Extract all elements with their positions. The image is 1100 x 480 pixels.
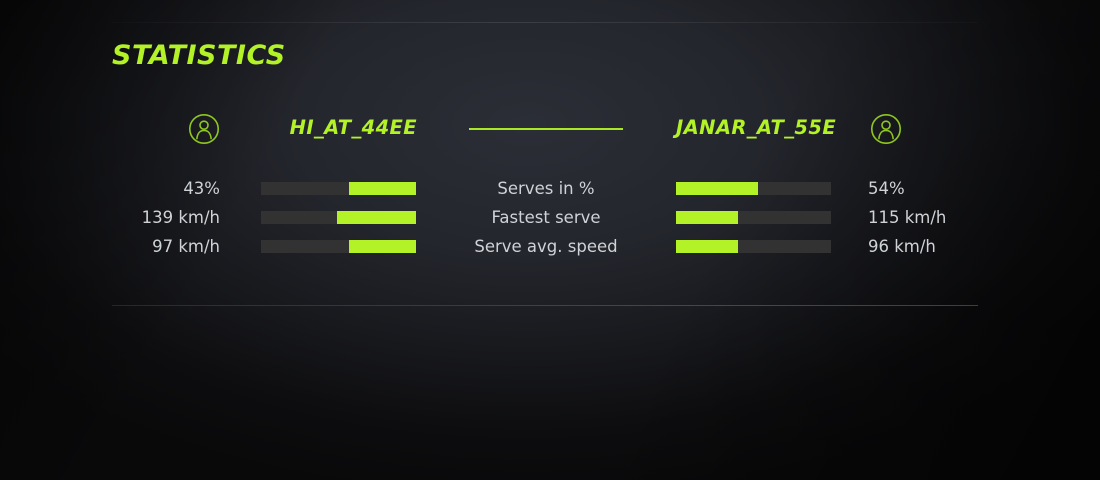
statistics-panel: STATISTICS HI_AT_44EE JANAR_AT_55E [0,0,1100,480]
stat-bar-left-fill [349,182,416,195]
stat-bar-right-fill [676,240,738,253]
players-header-row: HI_AT_44EE JANAR_AT_55E [0,112,1100,146]
stat-bar-right [676,211,831,224]
stat-bar-left [261,240,416,253]
stat-value-right: 115 km/h [868,206,1038,229]
stat-label: Serves in % [431,177,661,200]
stat-bar-left [261,211,416,224]
stat-value-left: 43% [60,177,220,200]
stat-value-right: 96 km/h [868,235,1038,258]
stat-row: 97 km/h Serve avg. speed 96 km/h [0,235,1100,264]
player-name-left: HI_AT_44EE [150,114,417,142]
stat-bar-right-fill [676,182,758,195]
person-avatar-icon [869,112,903,146]
player-name-right: JANAR_AT_55E [676,114,856,142]
stat-label: Fastest serve [431,206,661,229]
stat-bar-left-fill [349,240,416,253]
stat-rows: 43% Serves in % 54% 139 km/h Fastest ser… [0,177,1100,264]
stat-value-left: 97 km/h [60,235,220,258]
stat-bar-left [261,182,416,195]
statistics-panel-root: STATISTICS HI_AT_44EE JANAR_AT_55E [0,0,1100,480]
header-accent-line [469,128,623,130]
page-title: STATISTICS [112,40,286,71]
stat-row: 43% Serves in % 54% [0,177,1100,206]
stat-bar-right-fill [676,211,738,224]
stat-bar-left-fill [337,211,416,224]
stat-bar-right [676,240,831,253]
stat-row: 139 km/h Fastest serve 115 km/h [0,206,1100,235]
stat-bar-right [676,182,831,195]
stat-value-left: 139 km/h [60,206,220,229]
stat-value-right: 54% [868,177,1038,200]
stat-label: Serve avg. speed [431,235,661,258]
